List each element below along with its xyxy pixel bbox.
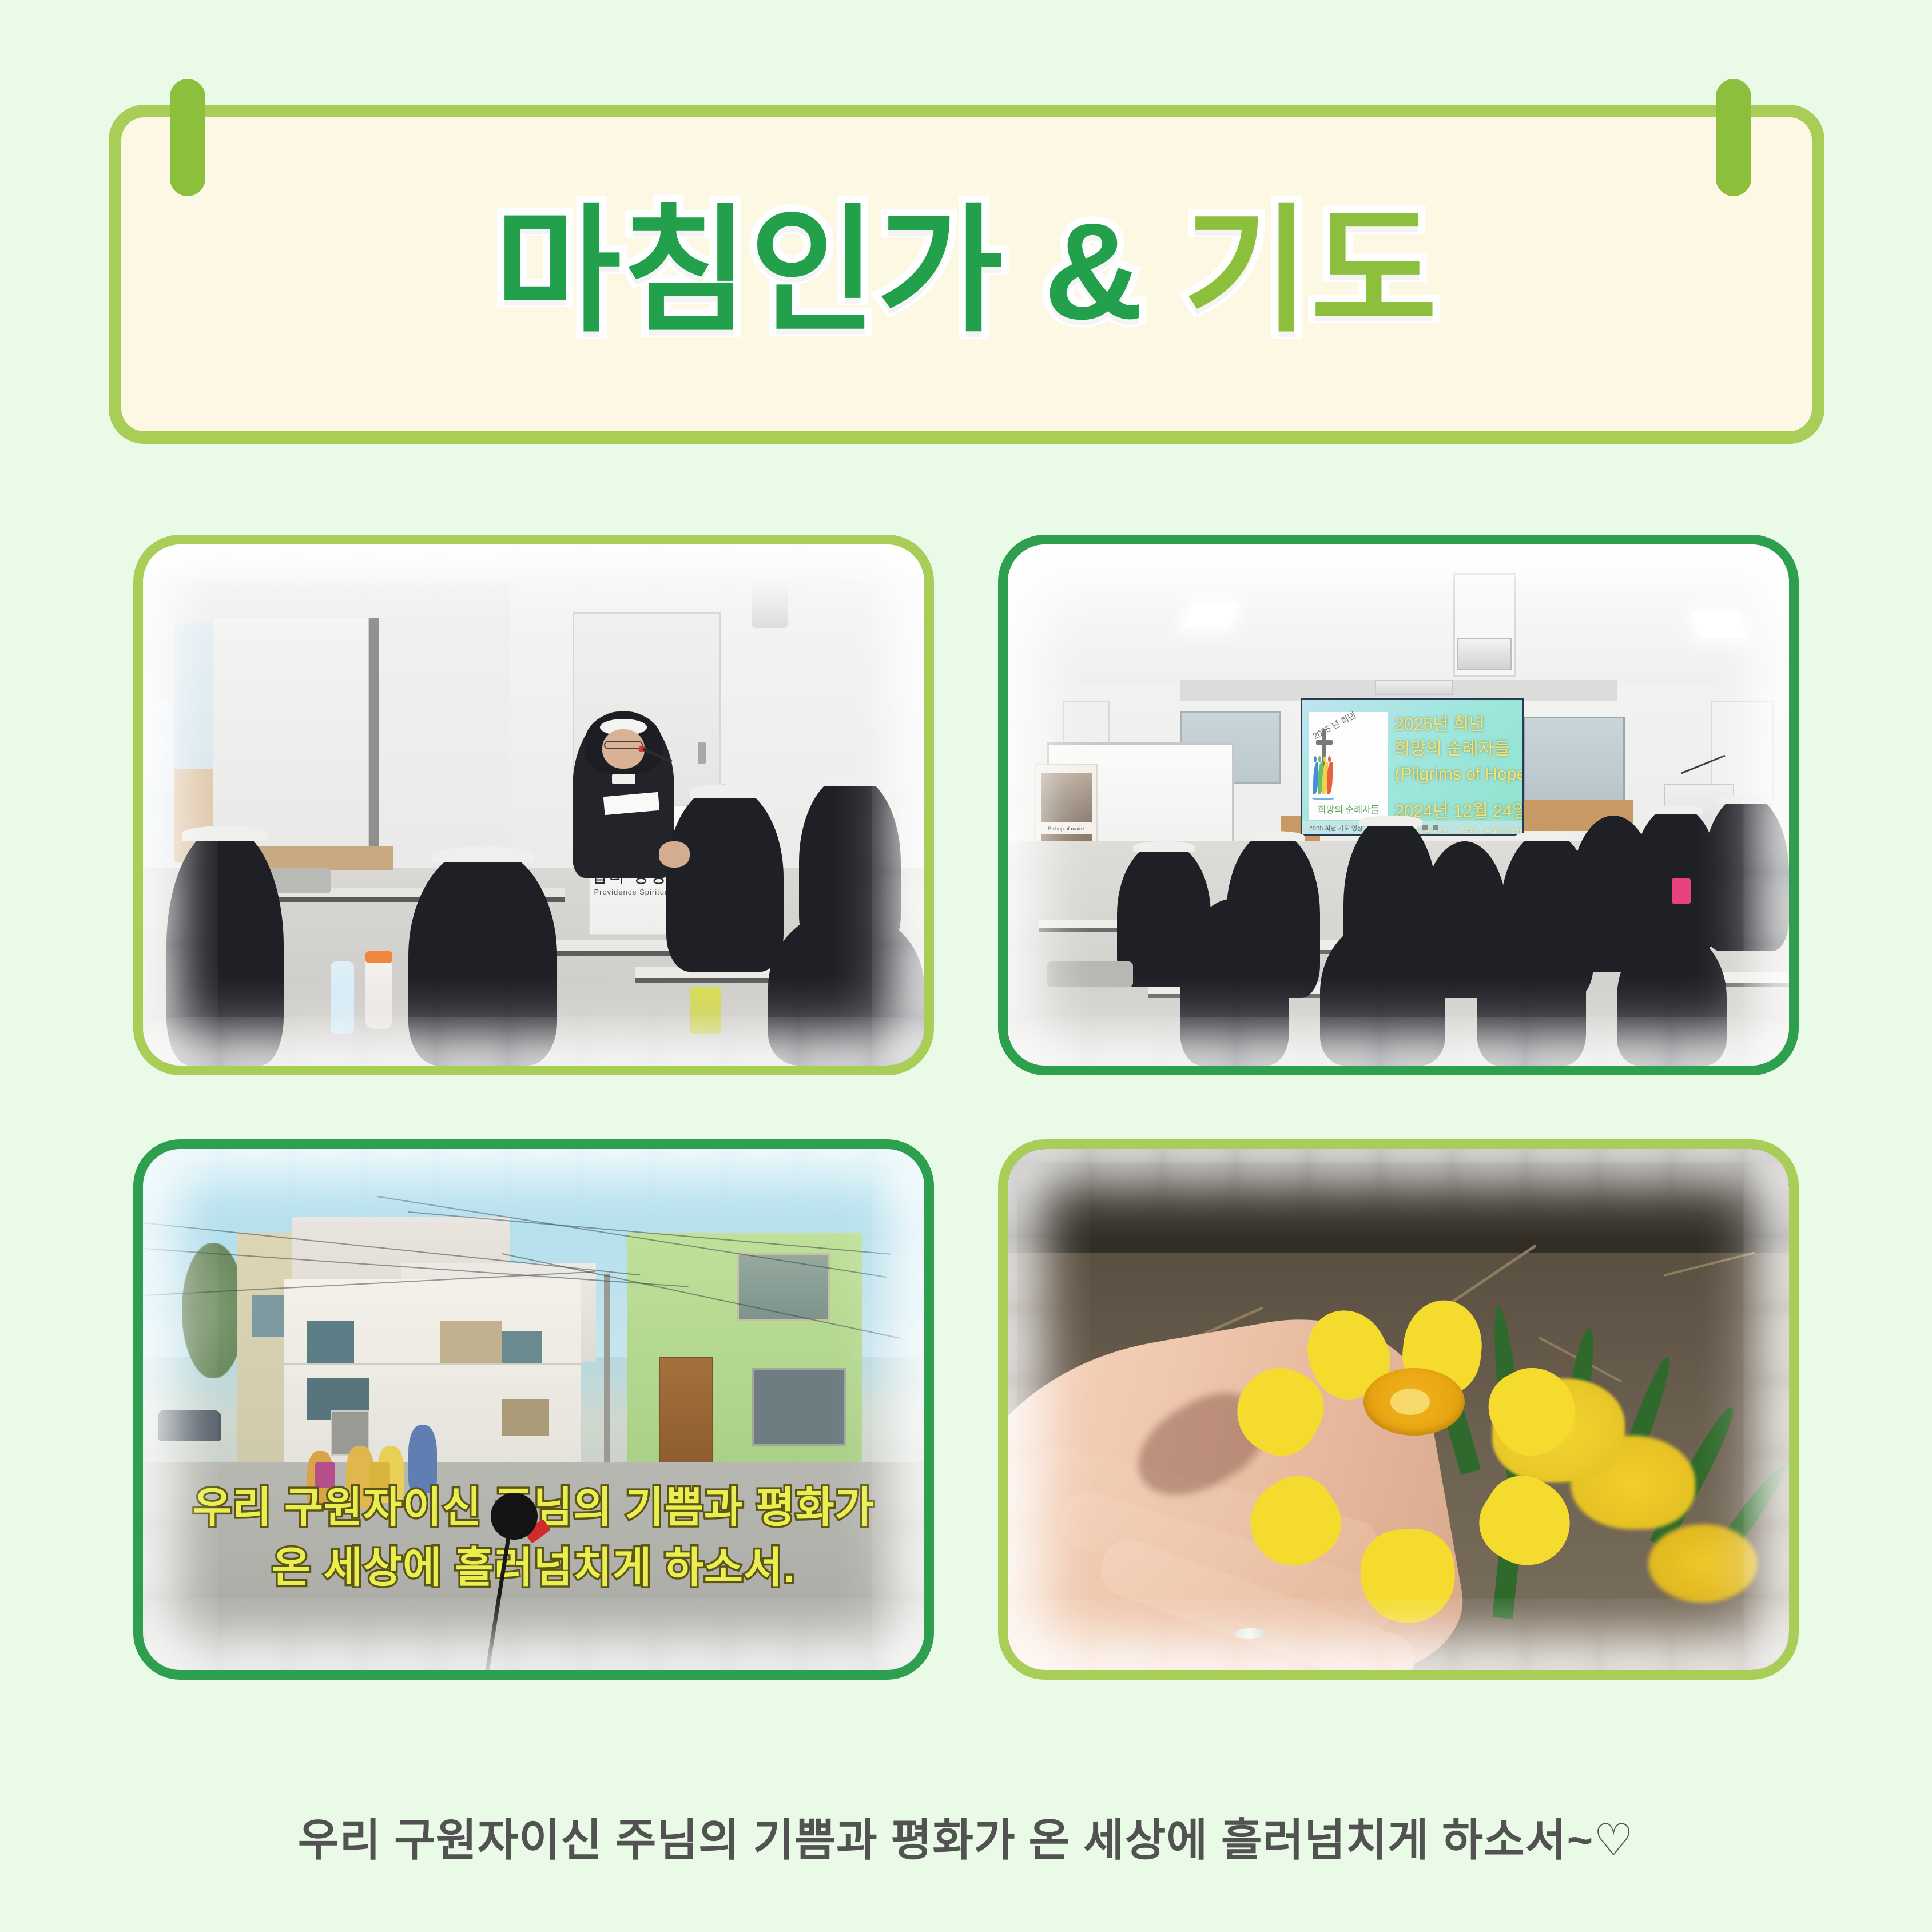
- ceiling-speaker-icon: [752, 571, 787, 628]
- photo-lecture-podium[interactable]: 섭리 영성센터 Providence Spiritual Center: [133, 535, 934, 1075]
- seated-nun: [1180, 899, 1289, 1066]
- player-caption: 2025 희년 기도 영상: [1309, 824, 1363, 833]
- backpack: [315, 1462, 336, 1488]
- jubilee-logo-bottom-text: 희망의 순례자들: [1318, 802, 1340, 816]
- projector-icon: [1457, 638, 1512, 670]
- seated-nun: [1320, 920, 1445, 1066]
- seated-nun: [166, 826, 284, 1066]
- seated-nun: [1703, 794, 1789, 951]
- child: [408, 1425, 436, 1493]
- seated-nun: [1477, 909, 1586, 1066]
- photo-grid: 섭리 영성센터 Providence Spiritual Center: [133, 535, 1799, 1704]
- air-conditioner-vent: [1375, 680, 1453, 695]
- seated-nun: [768, 909, 924, 1066]
- seated-nun: [666, 784, 784, 972]
- jubilee-logo-icon: 2025 년 희년 희망의 순례자들: [1309, 712, 1388, 820]
- seated-nun: [1617, 930, 1726, 1066]
- pin-left-icon: [170, 79, 205, 196]
- screen-line-2: 희망의 순례자들: [1394, 737, 1519, 762]
- photo-street-prayer[interactable]: 우리 구원자이신 주님의 기쁨과 평화가 온 세상에 흘러넘치게 하소서.: [133, 1139, 934, 1680]
- screen-line-3: (Pilgrims of Hope): [1394, 762, 1519, 787]
- microphone-icon: [491, 1493, 538, 1540]
- poster-card: 마침인가 & 기도: [0, 0, 1932, 1932]
- screen-line-1: 2025년 희년: [1394, 712, 1519, 737]
- glasses-icon: [604, 741, 643, 749]
- pink-tumbler: [1672, 878, 1691, 904]
- water-bottle: [331, 961, 354, 1035]
- photo-classroom-projection[interactable]: 2025 년 희년 희망의 순례자들 2025년 희년 희망의 순례자들 (P: [998, 535, 1799, 1075]
- folded-cloth: [1047, 961, 1132, 988]
- backpack: [369, 1462, 390, 1488]
- projection-screen: 2025 년 희년 희망의 순례자들 2025년 희년 희망의 순례자들 (P: [1301, 698, 1523, 836]
- header-banner: [109, 105, 1824, 444]
- tree: [182, 1243, 244, 1378]
- photo-daffodil-hand[interactable]: [998, 1139, 1799, 1680]
- parked-car: [158, 1410, 221, 1441]
- pin-right-icon: [1716, 79, 1751, 196]
- poster-title: Bishop of mainz: [1041, 826, 1091, 832]
- footer-caption: 우리 구원자이신 주님의 기쁨과 평화가 온 세상에 흘러넘치게 하소서~♡: [0, 1804, 1932, 1869]
- seated-nun: [408, 846, 557, 1066]
- tumbler: [690, 987, 721, 1034]
- blurred-daffodil: [1648, 1524, 1758, 1603]
- utility-pole: [604, 1274, 610, 1482]
